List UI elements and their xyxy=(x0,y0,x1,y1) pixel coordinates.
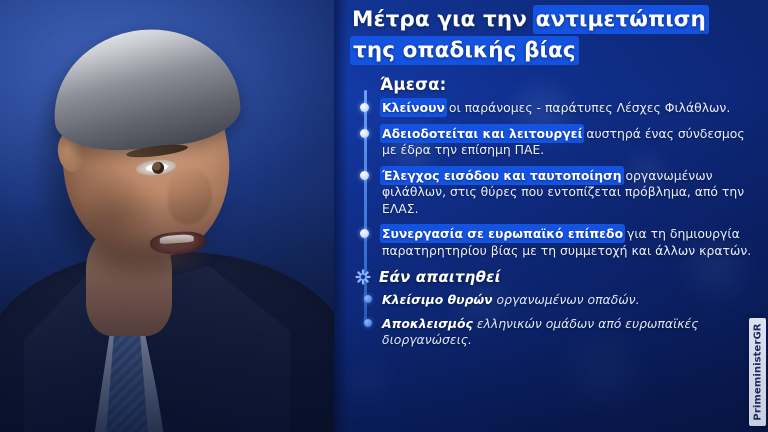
bullet-dot-icon xyxy=(364,295,372,303)
list-item-rest: οι παράνομες - παράτυπες Λέσχες Φιλάθλων… xyxy=(445,100,730,115)
list-item-lead: Κλείνουν xyxy=(382,100,445,115)
watermark-text: PrimeministerGR xyxy=(752,323,763,420)
page-title: Μέτρα για την αντιμετώπιση της οπαδικής … xyxy=(352,6,752,64)
bullet-dot-icon xyxy=(360,171,369,180)
immediate-heading: Άμεσα: xyxy=(380,75,752,94)
list-item-lead: Συνεργασία σε ευρωπαϊκό επίπεδο xyxy=(382,226,623,241)
list-item: Κλείνουν οι παράνομες - παράτυπες Λέσχες… xyxy=(382,100,752,117)
list-item-lead: Αποκλεισμός xyxy=(382,316,473,331)
pupil xyxy=(151,161,164,174)
list-item: Συνεργασία σε ευρωπαϊκό επίπεδο για τη δ… xyxy=(382,226,752,259)
backdrop-gradient xyxy=(0,194,334,432)
list-item-lead: Αδειοδοτείται και λειτουργεί xyxy=(382,126,582,141)
title-highlight-1: αντιμετώπιση xyxy=(535,7,707,32)
list-item: Κλείσιμο θυρών οργανωμένων οπαδών. xyxy=(382,292,752,309)
list-item-rest: οργανωμένων οπαδών. xyxy=(493,292,640,307)
bullet-dot-icon xyxy=(360,229,369,238)
infographic-frame: Μέτρα για την αντιμετώπιση της οπαδικής … xyxy=(0,0,768,432)
conditional-heading: Εάν απαιτηθεί xyxy=(354,268,752,286)
watermark: PrimeministerGR xyxy=(749,318,766,426)
bullet-dot-icon xyxy=(360,129,369,138)
info-panel: Μέτρα για την αντιμετώπιση της οπαδικής … xyxy=(334,0,768,432)
title-highlight-2: της οπαδικής βίας xyxy=(352,38,577,63)
immediate-list: Κλείνουν οι παράνομες - παράτυπες Λέσχες… xyxy=(360,100,752,259)
list-item-lead: Κλείσιμο θυρών xyxy=(382,292,493,307)
list-item: Αποκλεισμός ελληνικών ομάδων από ευρωπαϊ… xyxy=(382,316,752,349)
list-item-lead: Έλεγχος εισόδου και ταυτοποίηση xyxy=(382,168,622,183)
title-line-2: της οπαδικής βίας xyxy=(352,37,752,65)
conditional-heading-label: Εάν απαιτηθεί xyxy=(379,268,501,286)
portrait-pane xyxy=(0,0,334,432)
bullet-dot-icon xyxy=(364,319,372,327)
list-item: Αδειοδοτείται και λειτουργεί αυστηρά ένα… xyxy=(382,126,752,159)
panel-content: Μέτρα για την αντιμετώπιση της οπαδικής … xyxy=(334,0,768,432)
list-item: Έλεγχος εισόδου και ταυτοποίηση οργανωμέ… xyxy=(382,168,752,218)
asterisk-snowflake-icon xyxy=(354,268,372,286)
bullet-dot-icon xyxy=(360,103,369,112)
conditional-list: Κλείσιμο θυρών οργανωμένων οπαδών. Αποκλ… xyxy=(352,292,752,349)
conditional-section: Εάν απαιτηθεί Κλείσιμο θυρών οργανωμένων… xyxy=(352,268,752,349)
title-plain-part: Μέτρα για την xyxy=(352,7,535,32)
